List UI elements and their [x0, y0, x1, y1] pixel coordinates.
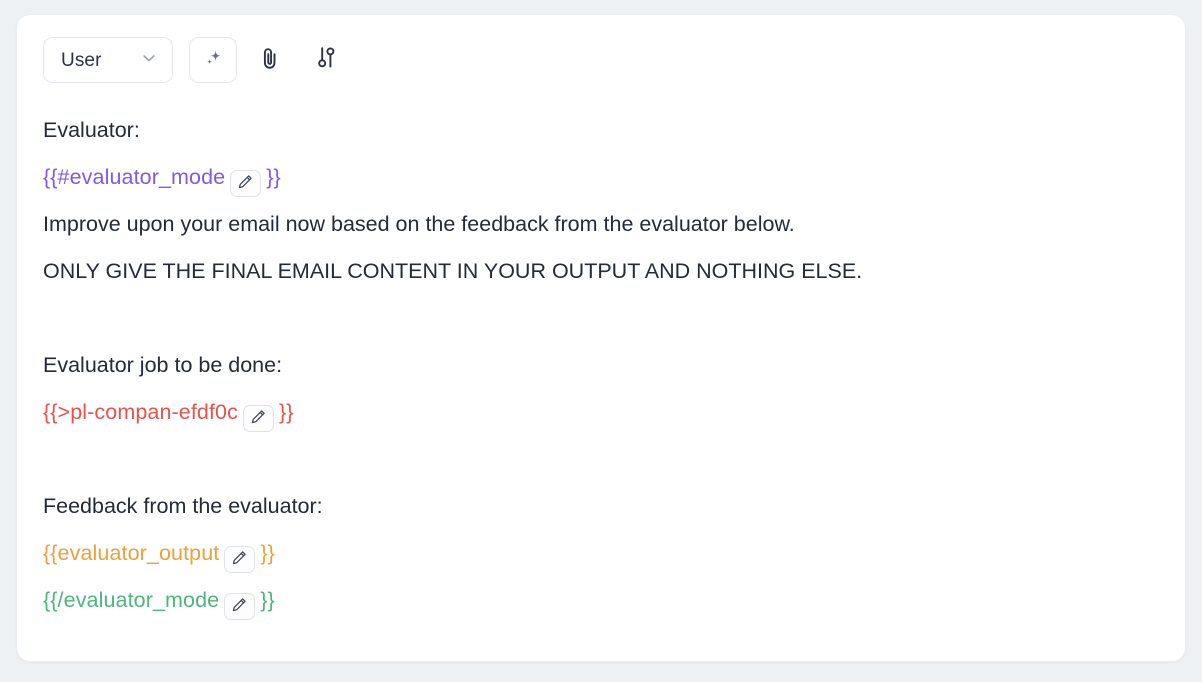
template-tag-evaluator-mode-open[interactable]: {{#evaluator_mode }} [43, 154, 1159, 201]
chevron-down-icon [140, 49, 158, 72]
instruction-line-1: Improve upon your email now based on the… [43, 201, 1159, 248]
edit-tag-button[interactable] [230, 170, 261, 197]
template-tag-close-text: }} [260, 588, 275, 612]
edit-tag-button[interactable] [224, 593, 255, 620]
settings-button[interactable] [309, 37, 343, 83]
blank-line-2 [43, 436, 1159, 483]
heading-evaluator-job: Evaluator job to be done: [43, 342, 1159, 389]
edit-tag-button[interactable] [224, 546, 255, 573]
blank-line-1 [43, 295, 1159, 342]
ai-assist-button[interactable] [189, 37, 237, 83]
pencil-icon [237, 160, 254, 207]
template-tag-open-text: {{evaluator_output [43, 541, 219, 565]
message-body: Evaluator: {{#evaluator_mode }} Improve … [43, 107, 1159, 624]
pencil-icon [250, 395, 267, 442]
template-tag-open-text: {{>pl-compan-efdf0c [43, 400, 238, 424]
template-tag-open-text: {{#evaluator_mode [43, 165, 225, 189]
edit-tag-button[interactable] [243, 405, 274, 432]
template-tag-close-text: }} [260, 541, 275, 565]
sliders-icon [313, 43, 339, 78]
attach-file-button[interactable] [253, 37, 287, 83]
role-select-label: User [61, 51, 102, 70]
pencil-icon [231, 536, 248, 583]
template-tag-evaluator-output[interactable]: {{evaluator_output }} [43, 530, 1159, 577]
paperclip-icon [256, 43, 284, 78]
template-tag-close-text: }} [279, 400, 294, 424]
instruction-line-2: ONLY GIVE THE FINAL EMAIL CONTENT IN YOU… [43, 248, 1159, 295]
pencil-icon [231, 583, 248, 630]
role-select-user[interactable]: User [43, 37, 173, 83]
template-tag-partial-pl-compan[interactable]: {{>pl-compan-efdf0c }} [43, 389, 1159, 436]
sparkle-icon [201, 46, 225, 75]
template-tag-open-text: {{/evaluator_mode [43, 588, 219, 612]
heading-evaluator: Evaluator: [43, 107, 1159, 154]
page-root: User [0, 0, 1202, 682]
template-tag-close-text: }} [266, 165, 281, 189]
prompt-message-card: User [16, 14, 1186, 662]
message-toolbar: User [43, 37, 1159, 83]
heading-feedback: Feedback from the evaluator: [43, 483, 1159, 530]
template-tag-evaluator-mode-close[interactable]: {{/evaluator_mode }} [43, 577, 1159, 624]
